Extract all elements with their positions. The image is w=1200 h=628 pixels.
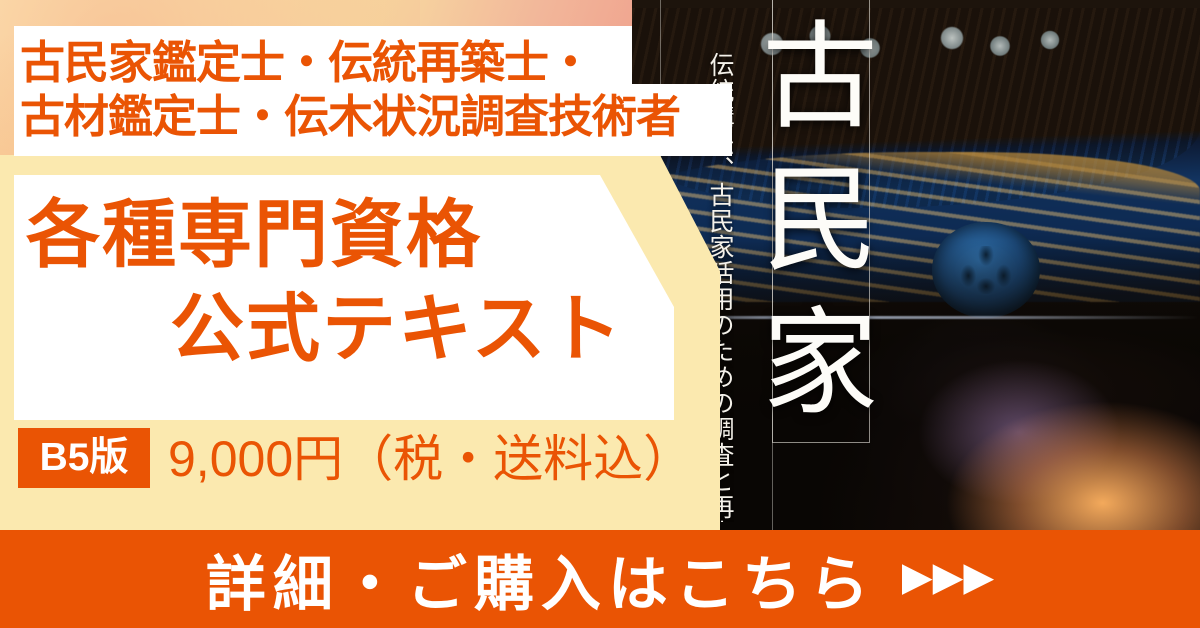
cta-label: 詳細・ご購入はこちら — [206, 536, 876, 623]
promo-banner: 古 民 家 伝統構法、古民家活用のための調査と再生の 古民家鑑定士・伝統再築士・… — [0, 0, 1200, 628]
cover-title-vertical: 古 民 家 — [774, 8, 866, 438]
cover-title-char-3: 家 — [762, 309, 878, 423]
chevron-right-icon: ▶▶▶ — [902, 557, 994, 597]
subject-line-1: 各種専門資格 — [26, 198, 482, 272]
headline-line-2: 古材鑑定士・伝木状況調査技術者 — [20, 94, 680, 139]
cream-backing-panel-foot — [0, 500, 660, 530]
price-text: 9,000円（税・送料込） — [168, 432, 693, 486]
cover-title-char-1: 古 — [762, 23, 878, 137]
format-badge: B5版 — [18, 428, 150, 488]
subject-line-2: 公式テキスト — [170, 292, 624, 366]
cover-warm-glow — [852, 300, 1200, 536]
cover-title-char-2: 民 — [762, 166, 878, 280]
headline-line-1: 古民家鑑定士・伝統再築士・ — [20, 40, 592, 85]
cta-bar-content[interactable]: 詳細・ご購入はこちら ▶▶▶ — [0, 530, 1200, 628]
